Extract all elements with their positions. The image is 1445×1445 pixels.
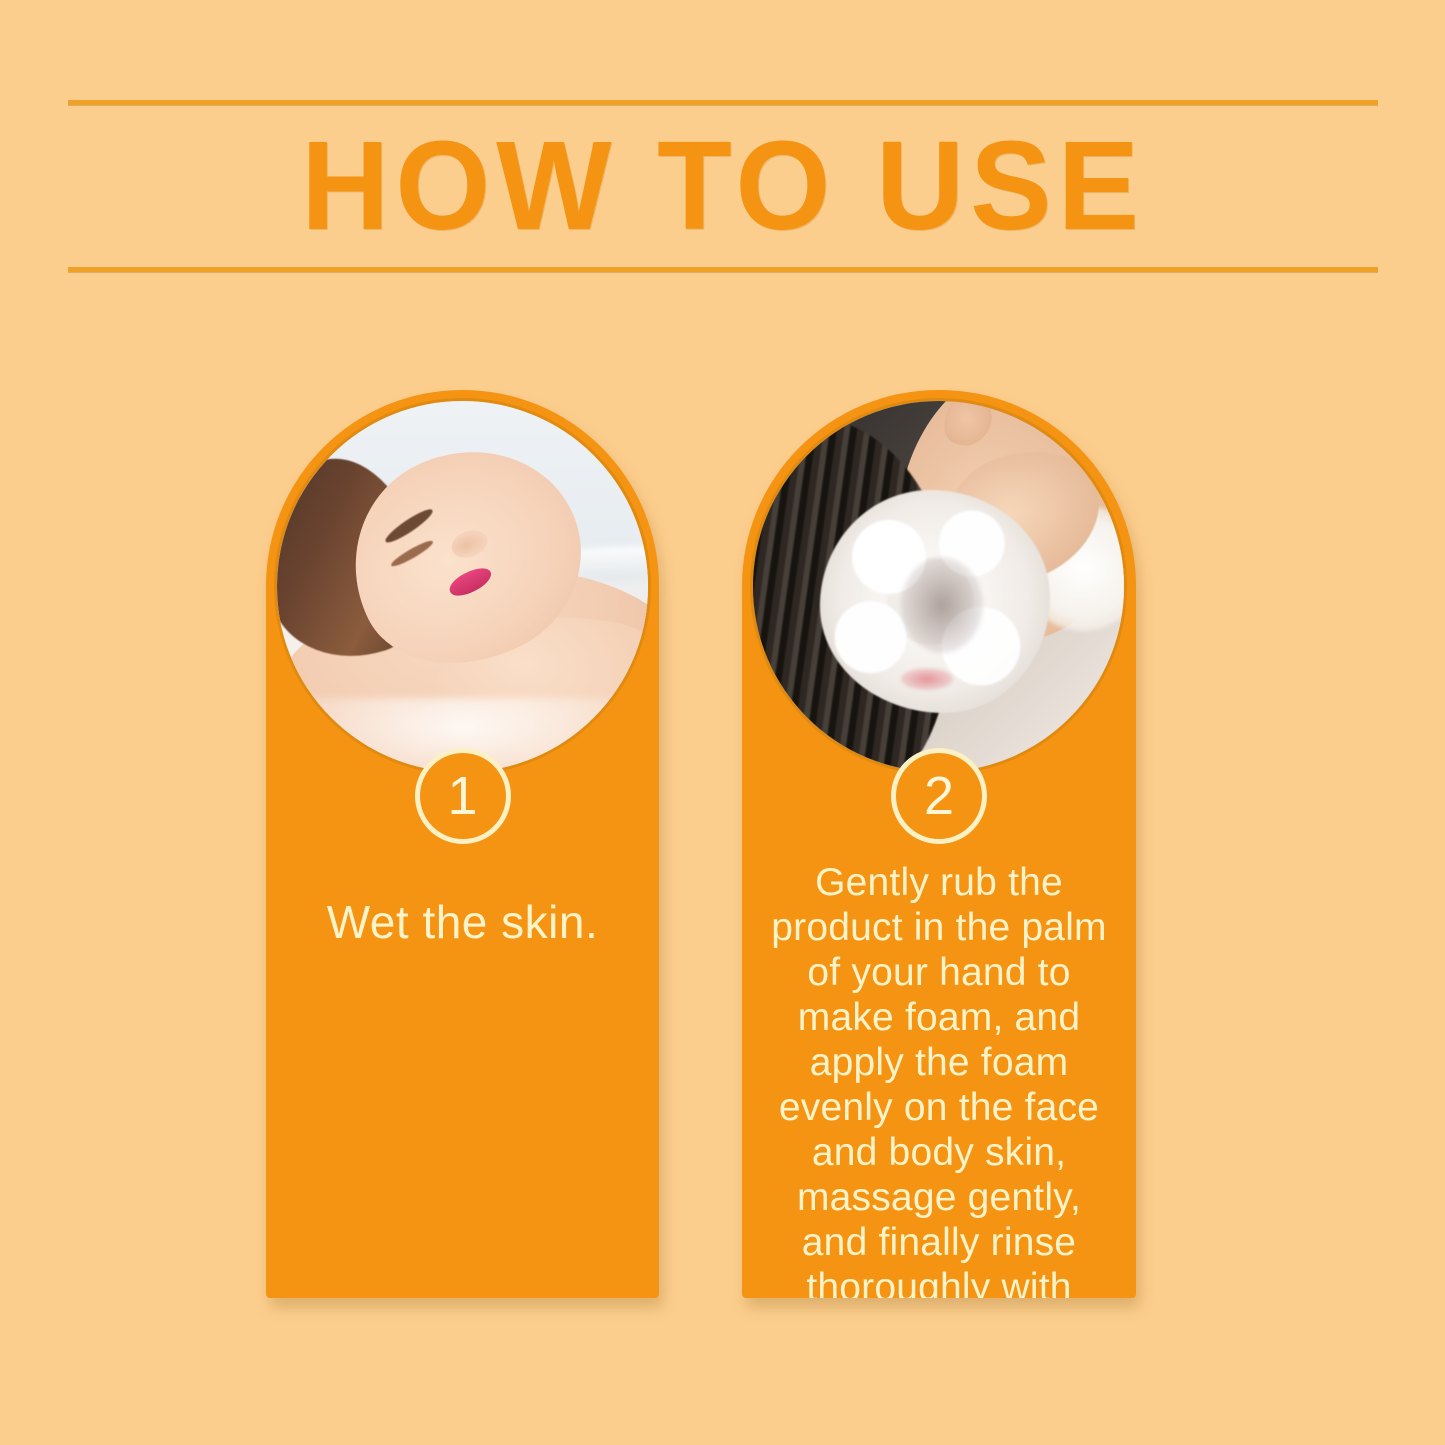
title-top-rule (68, 100, 1378, 105)
step-2-photo (750, 398, 1127, 775)
title-block: HOW TO USE (68, 100, 1378, 272)
step-2-caption: Gently rub the product in the palm of yo… (742, 860, 1136, 1298)
step-1-number-badge: 1 (415, 748, 511, 844)
how-to-use-infographic: HOW TO USE 1 Wet the skin. (0, 0, 1445, 1445)
step-card-2: 2 Gently rub the product in the palm of … (742, 390, 1136, 1298)
page-title: HOW TO USE (88, 112, 1359, 260)
title-bottom-rule (68, 267, 1378, 272)
step-card-1: 1 Wet the skin. (266, 390, 659, 1298)
photo-2-loofah-core (901, 557, 983, 653)
step-2-number-badge: 2 (891, 748, 987, 844)
step-1-caption: Wet the skin. (266, 895, 659, 949)
step-1-photo (274, 398, 651, 775)
